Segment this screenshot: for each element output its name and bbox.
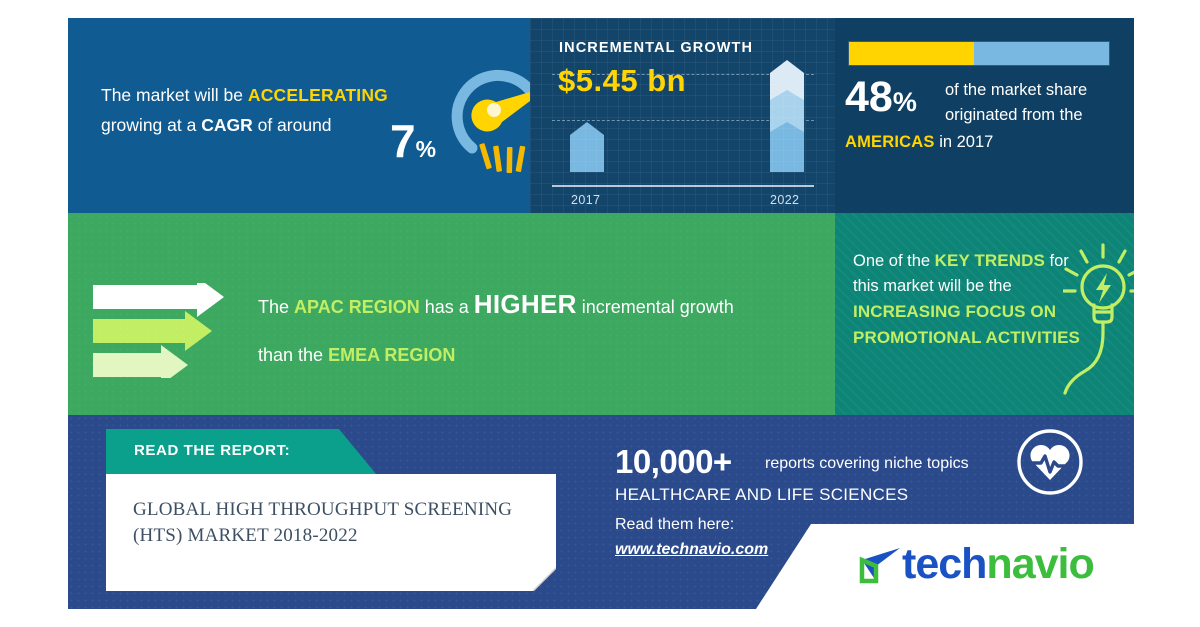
trend-line1-pre: One of the (853, 252, 935, 270)
report-title: GLOBAL HIGH THROUGHPUT SCREENING (HTS) M… (133, 497, 533, 549)
infographic-root: The market will be ACCELERATING growing … (68, 18, 1134, 609)
top-row: The market will be ACCELERATING growing … (68, 18, 1134, 213)
cagr-percent-sign: % (416, 136, 436, 162)
region-line1-pre: The (258, 297, 294, 317)
report-card[interactable]: GLOBAL HIGH THROUGHPUT SCREENING (HTS) M… (106, 474, 556, 591)
cagr-panel: The market will be ACCELERATING growing … (68, 18, 530, 213)
region-higher-emphasis: HIGHER (474, 289, 577, 319)
trend-statement: One of the KEY TRENDS for this market wi… (853, 248, 1089, 351)
footer-row: READ THE REPORT: GLOBAL HIGH THROUGHPUT … (68, 415, 1134, 609)
key-trend-panel: One of the KEY TRENDS for this market wi… (835, 213, 1134, 415)
share-region-highlight: AMERICAS (845, 133, 935, 151)
region-comparison-panel: The APAC REGION has a HIGHER incremental… (68, 213, 835, 415)
website-link[interactable]: www.technavio.com (615, 541, 768, 559)
chart-baseline (552, 185, 814, 187)
share-copy-line3: in 2017 (935, 133, 994, 151)
region-statement-line1: The APAC REGION has a HIGHER incremental… (258, 291, 798, 321)
region-line2-pre: than the (258, 345, 328, 365)
report-category: HEALTHCARE AND LIFE SCIENCES (615, 485, 908, 505)
x-tick-2017: 2017 (571, 193, 600, 207)
bar-2017 (570, 122, 604, 172)
cagr-accelerating-highlight: ACCELERATING (248, 85, 388, 105)
trend-line1-post: for (1045, 252, 1069, 270)
region-line1-post: incremental growth (577, 297, 734, 317)
technavio-logo[interactable]: technavio (850, 540, 1094, 588)
growth-value: $5.45 bn (558, 63, 686, 99)
logo-word-navio: navio (986, 540, 1093, 588)
technavio-wordmark: technavio (902, 543, 1094, 586)
share-copy-line1: of the market share (945, 81, 1087, 99)
report-count: 10,000+ (615, 443, 732, 481)
read-the-report-ribbon: READ THE REPORT: (106, 429, 376, 474)
bar-2022 (770, 60, 804, 172)
region-statement-line2: than the EMEA REGION (258, 345, 455, 366)
region-apac-highlight: APAC REGION (294, 297, 420, 317)
report-count-subtitle: reports covering niche topics (765, 455, 969, 473)
incremental-growth-panel: 2017 2022 INCREMENTAL GROWTH $5.45 bn (530, 18, 835, 213)
market-share-panel: 48% of the market share originated from … (835, 18, 1134, 213)
cagr-label: CAGR (201, 115, 253, 135)
market-share-bar (848, 41, 1110, 66)
trend-line4: PROMOTIONAL ACTIVITIES (853, 328, 1080, 347)
technavio-paper-plane-icon (850, 540, 902, 588)
share-segment-others (974, 42, 1109, 65)
cagr-statement: The market will be ACCELERATING growing … (101, 80, 401, 140)
middle-row: The APAC REGION has a HIGHER incremental… (68, 213, 1134, 415)
share-copy-line2: originated from the (945, 106, 1083, 124)
share-region-line: AMERICAS in 2017 (845, 131, 1134, 153)
region-emea-highlight: EMEA REGION (328, 345, 455, 365)
x-tick-2022: 2022 (770, 193, 799, 207)
heart-pulse-icon (1014, 426, 1086, 498)
trend-line3: INCREASING FOCUS ON (853, 302, 1056, 321)
read-them-here-label: Read them here: (615, 516, 734, 534)
trend-line2: this market will be the (853, 277, 1012, 295)
region-line1-mid: has a (420, 297, 474, 317)
growth-title: INCREMENTAL GROWTH (559, 40, 753, 56)
share-number: 48 (845, 73, 893, 121)
share-percent-sign: % (893, 87, 917, 117)
cagr-number: 7 (390, 115, 416, 167)
share-value: 48% (845, 76, 917, 119)
page-fold-corner (532, 567, 556, 591)
share-segment-americas (849, 42, 974, 65)
cagr-line2-post: of around (253, 115, 332, 135)
cagr-line2-pre: growing at a (101, 115, 201, 135)
read-the-report-label: READ THE REPORT: (134, 442, 290, 459)
share-copy-lines: of the market share originated from the (945, 78, 1134, 128)
cagr-line1-pre: The market will be (101, 85, 248, 105)
three-arrows-icon (93, 283, 228, 378)
logo-word-tech: tech (902, 540, 986, 588)
trend-keytrends-highlight: KEY TRENDS (935, 251, 1045, 270)
cagr-value: 7% (390, 118, 436, 164)
